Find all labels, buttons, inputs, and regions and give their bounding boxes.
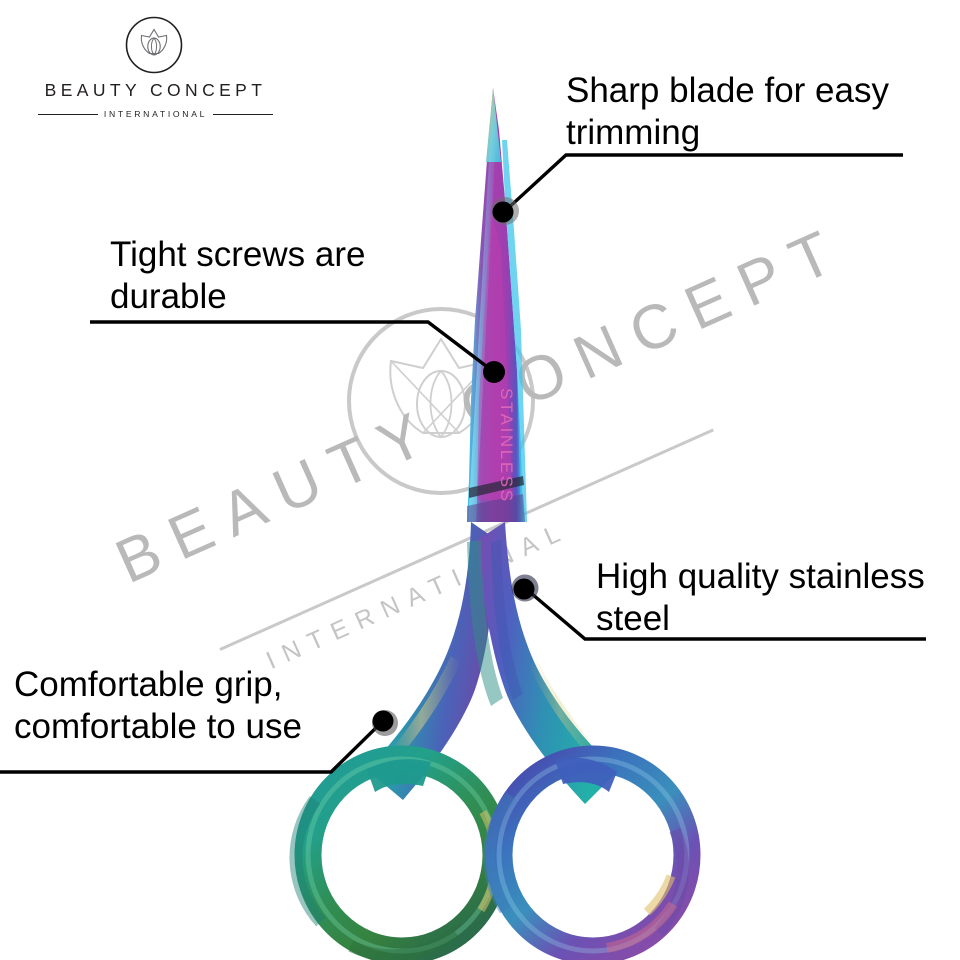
stainless-engraving: STAINLESS [497, 388, 516, 504]
leader-tight-screws [90, 322, 505, 383]
right-handle-ring [499, 759, 687, 951]
brand-subtitle: INTERNATIONAL [104, 109, 207, 119]
callout-label-stainless-steel: High quality stainless steel [596, 556, 956, 640]
lotus-flower-icon [125, 16, 183, 74]
left-handle-ring [308, 759, 496, 951]
brand-name: BEAUTY CONCEPT [38, 80, 273, 101]
callout-label-comfortable-grip: Comfortable grip, comfortable to use [14, 664, 394, 748]
callout-label-tight-screws: Tight screws are durable [110, 234, 450, 318]
leader-sharp-blade [491, 155, 903, 225]
rule-right [213, 114, 273, 115]
brand-subtitle-row: INTERNATIONAL [38, 109, 273, 119]
watermark-sub-text: INTERNATIONAL [262, 516, 574, 676]
scissors-product-image: STAINLESS [255, 70, 735, 960]
callout-label-sharp-blade: Sharp blade for easy trimming [566, 70, 946, 154]
rule-left [38, 114, 98, 115]
brand-logo: BEAUTY CONCEPT INTERNATIONAL [38, 16, 273, 128]
product-infographic: BEAUTY CONCEPT INTERNATIONAL BEAUTY CONC… [0, 0, 960, 960]
lotus-flower-watermark-icon [345, 305, 537, 497]
